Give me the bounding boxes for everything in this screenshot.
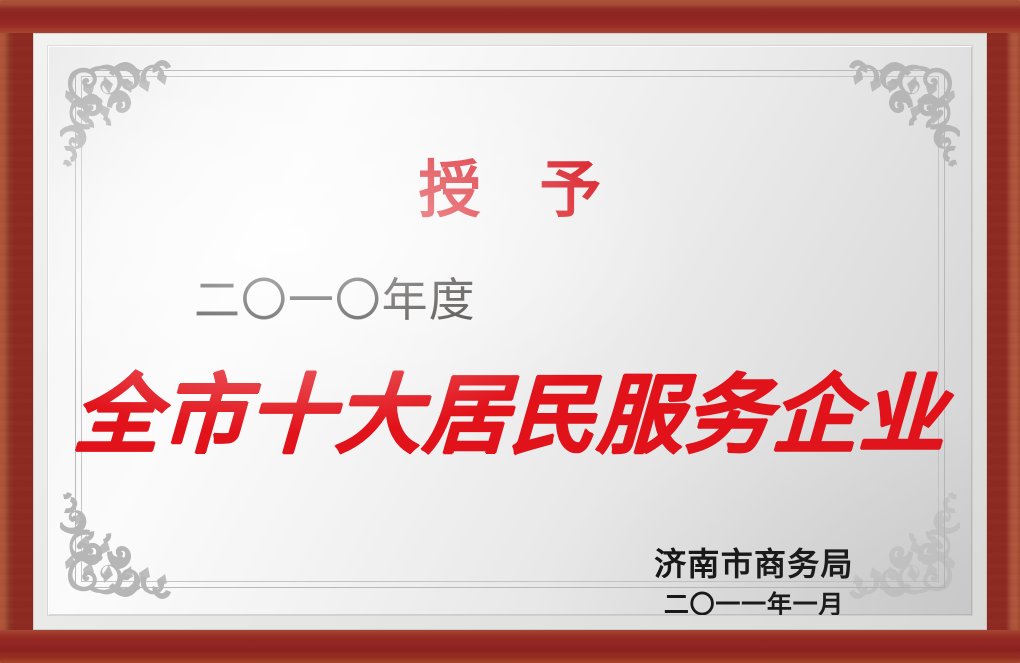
signature-block: 济南市商务局 二〇一一年一月: [629, 546, 879, 615]
plaque-plate: 授 予 二〇一〇年度 全市十大居民服务企业 济南市商务局 二〇一一年一月: [48, 46, 972, 615]
award-title-text: 全市十大居民服务企业: [48, 371, 972, 461]
plaque-content: 授 予 二〇一〇年度 全市十大居民服务企业 济南市商务局 二〇一一年一月: [48, 46, 972, 615]
issue-date: 二〇一一年一月: [629, 590, 879, 615]
award-verb-text: 授 予: [48, 159, 972, 221]
award-year-text: 二〇一〇年度: [194, 274, 476, 327]
issuing-organization: 济南市商务局: [629, 546, 879, 584]
award-plaque: 授 予 二〇一〇年度 全市十大居民服务企业 济南市商务局 二〇一一年一月: [0, 0, 1020, 663]
